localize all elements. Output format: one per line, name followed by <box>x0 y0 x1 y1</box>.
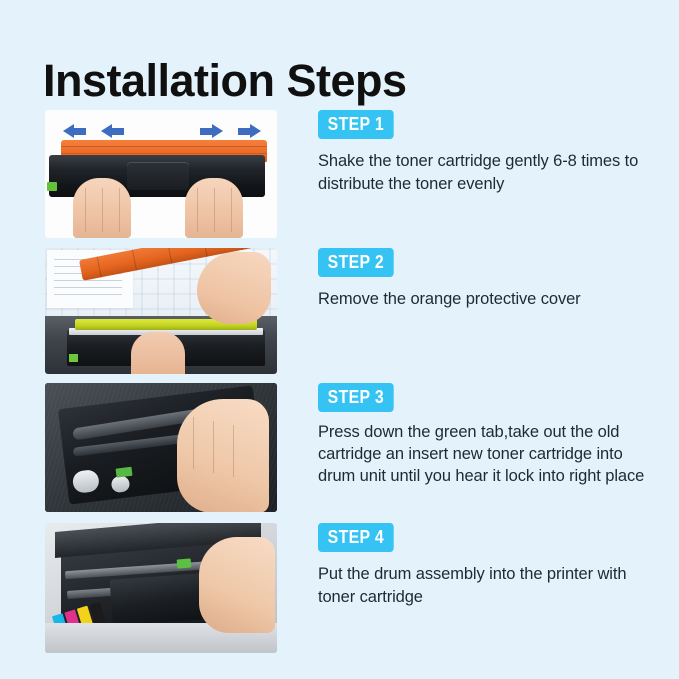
step-description: Shake the toner cartridge gently 6-8 tim… <box>318 150 658 197</box>
white-gear-shape <box>111 475 131 493</box>
lifting-hand-shape <box>197 252 271 324</box>
step-row: STEP 4 Put the drum assembly into the pr… <box>0 523 679 653</box>
step-description: Put the drum assembly into the printer w… <box>318 563 658 610</box>
green-tab-shape <box>116 467 133 478</box>
left-hand-shape <box>73 178 131 238</box>
step-description: Press down the green tab,take out the ol… <box>318 421 658 487</box>
green-chip-shape <box>47 182 57 191</box>
status-badge: STEP 2 <box>318 248 394 277</box>
step-row: STEP 2 Remove the orange protective cove… <box>0 248 679 374</box>
inserting-hand-shape <box>199 537 275 633</box>
installation-steps-list: STEP 1 Shake the toner cartridge gently … <box>0 0 679 679</box>
status-badge: STEP 4 <box>318 523 394 552</box>
right-hand-shape <box>185 178 243 238</box>
toner-cartridge-shake-photo <box>45 110 277 238</box>
step-text-column: STEP 2 Remove the orange protective cove… <box>318 248 658 311</box>
green-latch-shape <box>177 558 192 568</box>
step-text-column: STEP 1 Shake the toner cartridge gently … <box>318 110 658 197</box>
step-row: STEP 3 Press down the green tab,take out… <box>0 383 679 512</box>
press-green-tab-photo <box>45 383 277 512</box>
green-chip-shape <box>69 354 78 362</box>
step-text-column: STEP 3 Press down the green tab,take out… <box>318 383 658 487</box>
remove-orange-cover-photo <box>45 248 277 374</box>
insert-drum-into-printer-photo <box>45 523 277 653</box>
status-badge: STEP 1 <box>318 110 394 139</box>
step-text-column: STEP 4 Put the drum assembly into the pr… <box>318 523 658 610</box>
status-badge: STEP 3 <box>318 383 394 412</box>
pressing-hand-shape <box>177 399 269 512</box>
step-row: STEP 1 Shake the toner cartridge gently … <box>0 110 679 238</box>
white-gear-shape <box>72 469 100 494</box>
step-description: Remove the orange protective cover <box>318 288 658 311</box>
supporting-hand-shape <box>131 332 185 374</box>
